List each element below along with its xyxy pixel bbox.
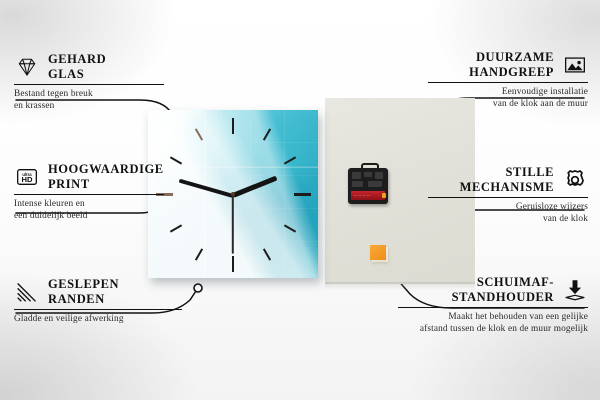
feature-desc-line2: van de klok aan de muur	[428, 99, 588, 110]
feature-duurzame-handgreep: DUURZAME HANDGREEP Eenvoudige installati…	[428, 50, 588, 110]
feature-desc-line1: Intense kleuren en	[14, 199, 164, 210]
feature-description: Intense kleuren en een duidelijk beeld	[14, 199, 164, 222]
feature-desc-line1: Geruisloze wijzers	[428, 202, 588, 213]
feature-header: SCHUIMAF- STANDHOUDER	[398, 275, 588, 304]
clock-center-pin	[231, 192, 235, 196]
feature-schuimafstandhouder: SCHUIMAF- STANDHOUDER Maakt het behouden…	[398, 275, 588, 335]
feature-divider	[14, 309, 182, 310]
mechanism-body: — — — —	[348, 168, 388, 204]
feature-title: HOOGWAARDIGE PRINT	[48, 162, 164, 191]
feature-description: Geruisloze wijzers van de klok	[428, 202, 588, 225]
picture-frame-icon	[562, 52, 588, 78]
feature-stille-mechanisme: STILLE MECHANISME Geruisloze wijzers van…	[428, 165, 588, 225]
mechanism-slot	[352, 181, 363, 187]
product-image: — — — —	[140, 100, 340, 290]
feature-title-line1: GEHARD	[48, 52, 106, 67]
feature-title-line2: HANDGREEP	[469, 65, 554, 80]
feature-desc-line1: Gladde en veilige afwerking	[14, 314, 182, 325]
feature-description: Gladde en veilige afwerking	[14, 314, 182, 325]
feature-divider	[14, 194, 164, 195]
feature-title-line1: DUURZAME	[469, 50, 554, 65]
diamond-icon	[14, 54, 40, 80]
mechanism-slot	[364, 172, 372, 177]
feature-title-line2: RANDEN	[48, 292, 119, 307]
down-arrow-pad-icon	[562, 277, 588, 303]
battery: — — — —	[351, 191, 385, 200]
foam-spacer	[370, 245, 386, 260]
feature-title: STILLE MECHANISME	[460, 165, 554, 194]
feature-divider	[398, 307, 588, 308]
feature-title-line2: GLAS	[48, 67, 106, 82]
feature-title-line1: HOOGWAARDIGE	[48, 162, 164, 177]
clock-tick	[232, 118, 234, 134]
infographic-canvas: — — — — GEHARD GLAS	[0, 0, 600, 400]
mechanism-slot	[375, 172, 383, 179]
clock-face	[148, 110, 318, 278]
feature-title-line2: PRINT	[48, 177, 164, 192]
feature-title-line1: STILLE	[460, 165, 554, 180]
clock-mechanism: — — — —	[348, 168, 388, 204]
feature-header: ultra HD HOOGWAARDIGE PRINT	[14, 162, 164, 191]
feature-title-line2: MECHANISME	[460, 180, 554, 195]
clock-second-hand	[232, 196, 234, 254]
feature-desc-line2: van de klok	[428, 214, 588, 225]
feature-divider	[428, 82, 588, 83]
feature-header: STILLE MECHANISME	[428, 165, 588, 194]
feature-header: DUURZAME HANDGREEP	[428, 50, 588, 79]
feature-title-line2: STANDHOUDER	[452, 290, 554, 305]
battery-label: — — — —	[354, 193, 370, 197]
feature-header: GESLEPEN RANDEN	[14, 277, 182, 306]
beveled-edges-icon	[14, 279, 40, 305]
feature-desc-line1: Bestand tegen breuk	[14, 89, 164, 100]
clock-tick	[294, 193, 311, 196]
mechanism-slot	[352, 172, 361, 179]
feature-gehard-glas: GEHARD GLAS Bestand tegen breuk en krass…	[14, 52, 164, 112]
feature-hoogwaardige-print: ultra HD HOOGWAARDIGE PRINT Intense kleu…	[14, 162, 164, 222]
feature-title-line1: SCHUIMAF-	[452, 275, 554, 290]
feature-divider	[14, 84, 164, 85]
feature-description: Maakt het behouden van een gelijke afsta…	[398, 312, 588, 335]
feature-desc-line1: Maakt het behouden van een gelijke	[398, 312, 588, 323]
mechanism-slot	[368, 181, 382, 187]
feature-title-line1: GESLEPEN	[48, 277, 119, 292]
feature-desc-line1: Eenvoudige installatie	[428, 87, 588, 98]
feature-header: GEHARD GLAS	[14, 52, 164, 81]
feature-desc-line2: en krassen	[14, 101, 164, 112]
battery-terminal	[382, 193, 386, 198]
feature-desc-line2: een duidelijk beeld	[14, 211, 164, 222]
feature-title: GESLEPEN RANDEN	[48, 277, 119, 306]
feature-title: SCHUIMAF- STANDHOUDER	[452, 275, 554, 304]
feature-description: Eenvoudige installatie van de klok aan d…	[428, 87, 588, 110]
clock-tick	[232, 256, 234, 272]
gear-icon	[562, 167, 588, 193]
feature-title: GEHARD GLAS	[48, 52, 106, 81]
ultra-hd-icon-bottom-text: HD	[21, 175, 33, 184]
feature-title: DUURZAME HANDGREEP	[469, 50, 554, 79]
feature-desc-line2: afstand tussen de klok en de muur mogeli…	[398, 324, 588, 335]
feature-geslepen-randen: GESLEPEN RANDEN Gladde en veilige afwerk…	[14, 277, 182, 326]
ultra-hd-icon: ultra HD	[14, 164, 40, 190]
feature-divider	[428, 197, 588, 198]
feature-description: Bestand tegen breuk en krassen	[14, 89, 164, 112]
